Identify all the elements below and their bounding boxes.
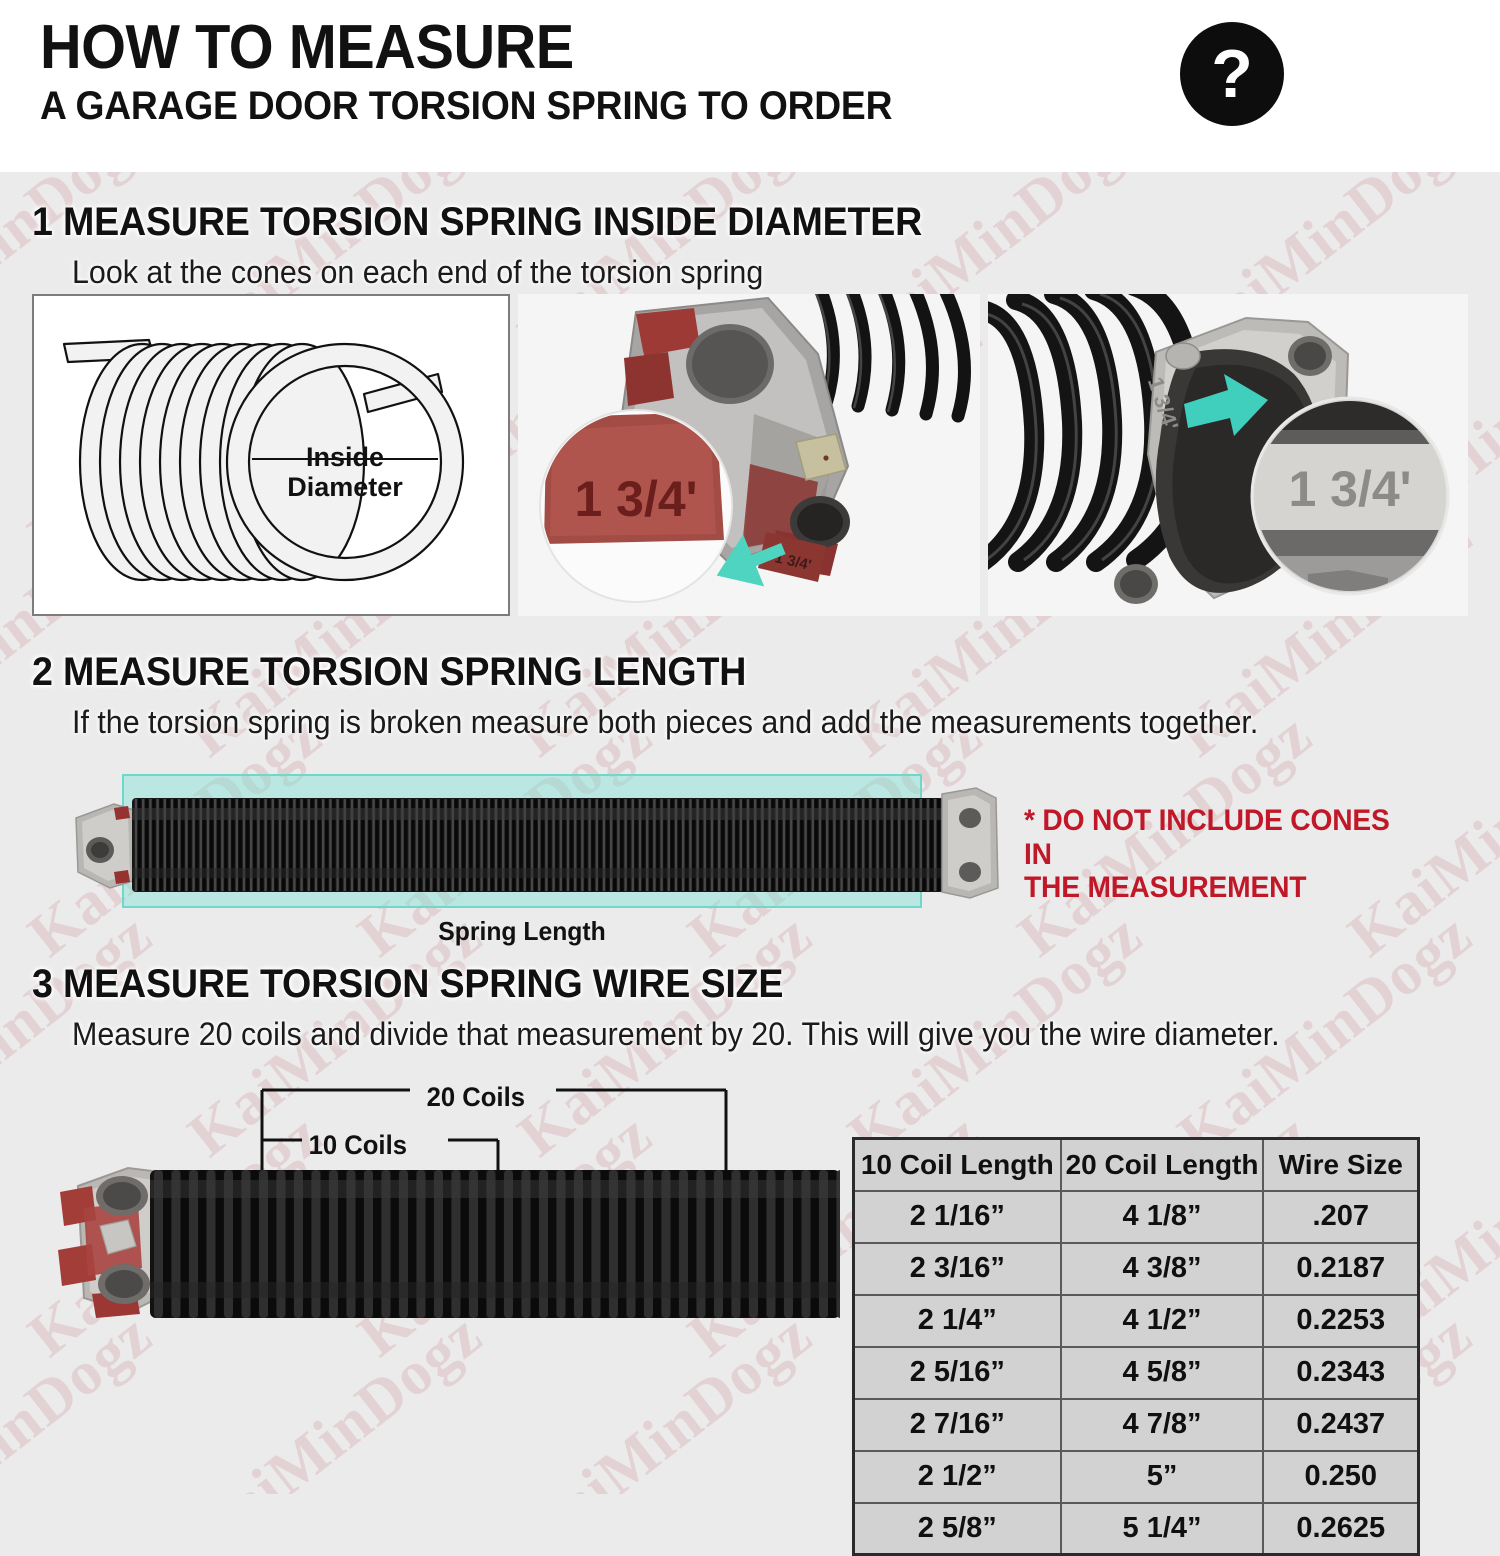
- table-row: 2 1/4”4 1/2”0.2253: [854, 1295, 1419, 1347]
- table-row: 2 1/16”4 1/8”.207: [854, 1191, 1419, 1243]
- step-1-section: 1 MEASURE TORSION SPRING INSIDE DIAMETER…: [0, 172, 1500, 642]
- col-20-coil-length: 20 Coil Length: [1061, 1139, 1264, 1191]
- warning-line-1: * DO NOT INCLUDE CONES IN: [1024, 804, 1400, 871]
- step-3-subtext: Measure 20 coils and divide that measure…: [72, 1016, 1280, 1053]
- cell-wire-size: 0.2187: [1263, 1243, 1418, 1295]
- step-3-section: 3 MEASURE TORSION SPRING WIRE SIZE Measu…: [0, 962, 1500, 1482]
- col-10-coil-length: 10 Coil Length: [854, 1139, 1061, 1191]
- red-cone-photo-svg: 1 3/4' 1 3/4': [518, 294, 980, 616]
- page-subtitle: A GARAGE DOOR TORSION SPRING TO ORDER: [40, 85, 892, 127]
- header-inner: HOW TO MEASURE A GARAGE DOOR TORSION SPR…: [40, 14, 1460, 127]
- spring-length-label: Spring Length: [142, 916, 902, 947]
- long-spring-photo-svg: [70, 784, 1010, 902]
- cell-20-coil: 4 1/8”: [1061, 1191, 1264, 1243]
- table-row: 2 3/16”4 3/8”0.2187: [854, 1243, 1419, 1295]
- table-row: 2 5/16”4 5/8”0.2343: [854, 1347, 1419, 1399]
- cell-wire-size: 0.2625: [1263, 1503, 1418, 1555]
- silver-cone-callout-text: 1 3/4': [1288, 461, 1411, 517]
- table-header-row: 10 Coil Length 20 Coil Length Wire Size: [854, 1139, 1419, 1191]
- coil-label-10: 10 Coils: [309, 1130, 407, 1161]
- cell-20-coil: 5”: [1061, 1451, 1264, 1503]
- cell-wire-size: 0.2437: [1263, 1399, 1418, 1451]
- question-mark-icon: ?: [1180, 22, 1284, 126]
- cell-20-coil: 4 1/2”: [1061, 1295, 1264, 1347]
- wire-size-table-wrap: 10 Coil Length 20 Coil Length Wire Size …: [852, 1137, 1420, 1556]
- cell-wire-size: 0.2343: [1263, 1347, 1418, 1399]
- cell-20-coil: 4 3/8”: [1061, 1243, 1264, 1295]
- header-band: HOW TO MEASURE A GARAGE DOOR TORSION SPR…: [0, 0, 1500, 172]
- spring-length-illustration: Spring Length * DO NOT INCLUDE CONES IN …: [0, 758, 1500, 958]
- cell-10-coil: 2 1/4”: [854, 1295, 1061, 1347]
- header-titles: HOW TO MEASURE A GARAGE DOOR TORSION SPR…: [40, 14, 956, 127]
- cell-20-coil: 5 1/4”: [1061, 1503, 1264, 1555]
- cell-10-coil: 2 3/16”: [854, 1243, 1061, 1295]
- cell-wire-size: 0.2253: [1263, 1295, 1418, 1347]
- inside-diameter-label-line2: Diameter: [287, 472, 403, 502]
- inside-diameter-label-line1: Inside: [306, 442, 384, 472]
- do-not-include-cones-warning: * DO NOT INCLUDE CONES IN THE MEASUREMEN…: [1024, 804, 1400, 905]
- table-row: 2 1/2”5”0.250: [854, 1451, 1419, 1503]
- silver-cone-photo-svg: 1 3/4' 1 3/4': [988, 294, 1468, 616]
- cell-20-coil: 4 5/8”: [1061, 1347, 1264, 1399]
- inside-diameter-diagram: Inside Diameter: [32, 294, 510, 616]
- silver-cone-photo: 1 3/4' 1 3/4': [988, 294, 1468, 616]
- step-1-panels: Inside Diameter: [32, 294, 1468, 616]
- cell-10-coil: 2 5/16”: [854, 1347, 1061, 1399]
- cell-wire-size: .207: [1263, 1191, 1418, 1243]
- coil-count-illustration: 20 Coils 10 Coils: [0, 1068, 840, 1458]
- coil-label-20: 20 Coils: [427, 1082, 525, 1113]
- step-2-heading: 2 MEASURE TORSION SPRING LENGTH: [32, 650, 746, 695]
- coil-cross-section-svg: Inside Diameter: [34, 296, 508, 614]
- table-body: 2 1/16”4 1/8”.2072 3/16”4 3/8”0.21872 1/…: [854, 1191, 1419, 1555]
- wire-size-table: 10 Coil Length 20 Coil Length Wire Size …: [852, 1137, 1420, 1556]
- step-1-heading: 1 MEASURE TORSION SPRING INSIDE DIAMETER: [32, 200, 922, 245]
- coil-count-svg: [0, 1068, 840, 1458]
- warning-line-2: THE MEASUREMENT: [1024, 871, 1400, 905]
- cell-10-coil: 2 7/16”: [854, 1399, 1061, 1451]
- step-2-subtext: If the torsion spring is broken measure …: [72, 704, 1258, 741]
- page-title: HOW TO MEASURE: [40, 18, 892, 79]
- red-cone-callout-text: 1 3/4': [574, 471, 697, 527]
- cell-20-coil: 4 7/8”: [1061, 1399, 1264, 1451]
- step-2-section: 2 MEASURE TORSION SPRING LENGTH If the t…: [0, 642, 1500, 972]
- step-3-heading: 3 MEASURE TORSION SPRING WIRE SIZE: [32, 962, 783, 1007]
- table-row: 2 7/16”4 7/8”0.2437: [854, 1399, 1419, 1451]
- cell-10-coil: 2 5/8”: [854, 1503, 1061, 1555]
- cell-10-coil: 2 1/16”: [854, 1191, 1061, 1243]
- cell-10-coil: 2 1/2”: [854, 1451, 1061, 1503]
- red-cone-photo: 1 3/4' 1 3/4': [518, 294, 980, 616]
- cell-wire-size: 0.250: [1263, 1451, 1418, 1503]
- col-wire-size: Wire Size: [1263, 1139, 1418, 1191]
- step-1-subtext: Look at the cones on each end of the tor…: [72, 254, 763, 291]
- table-row: 2 5/8”5 1/4”0.2625: [854, 1503, 1419, 1555]
